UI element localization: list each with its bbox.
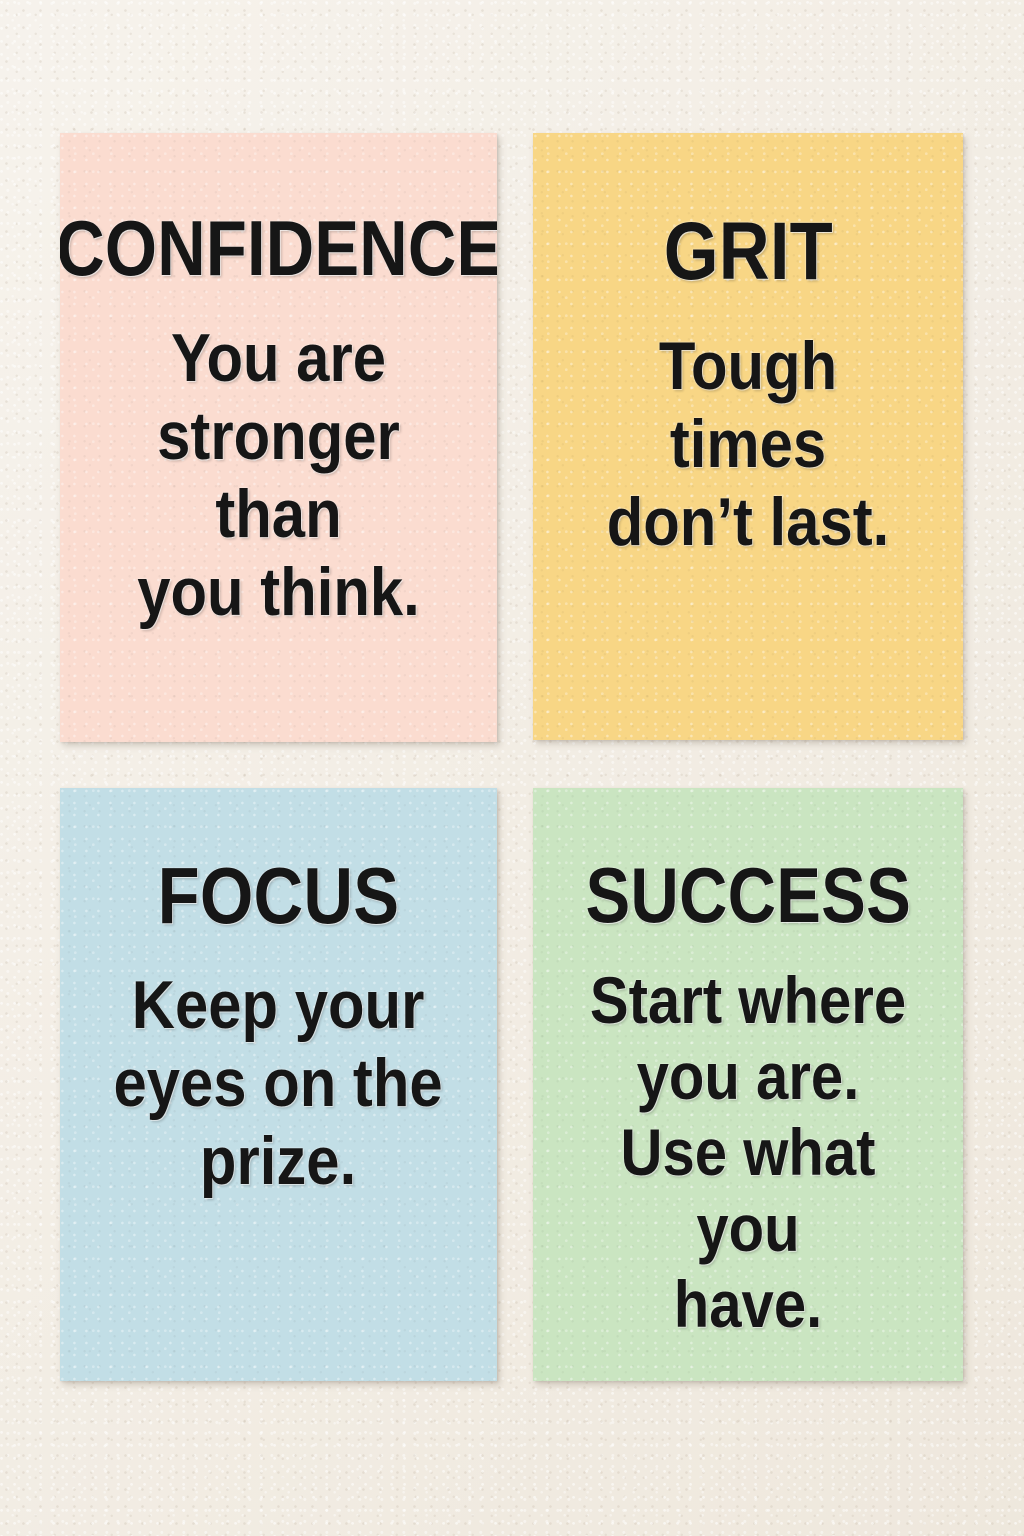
quote-line: prize. [114,1122,443,1200]
poster-quote-focus: Keep your eyes on the prize. [114,966,443,1200]
quote-line: Tough times [575,327,922,483]
poster-quote-success: Start where you are. Use what you have. [575,962,922,1342]
poster-card-confidence[interactable]: CONFIDENCE You are stronger than you thi… [60,133,497,742]
poster-title-grit: GRIT [663,211,832,293]
poster-content: FOCUS Keep your eyes on the prize. [60,788,497,1381]
quote-line: eyes on the [114,1044,443,1122]
poster-content: GRIT Tough times don’t last. [533,133,963,740]
poster-content: CONFIDENCE You are stronger than you thi… [60,133,497,742]
quote-line: Use what you [575,1114,922,1266]
poster-title-success: SUCCESS [585,856,911,934]
poster-card-success[interactable]: SUCCESS Start where you are. Use what yo… [533,788,963,1381]
quote-line: don’t last. [575,483,922,561]
poster-card-grit[interactable]: GRIT Tough times don’t last. [533,133,963,740]
poster-board: CONFIDENCE You are stronger than you thi… [0,0,1024,1536]
poster-quote-grit: Tough times don’t last. [575,327,922,561]
poster-title-confidence: CONFIDENCE [60,209,497,287]
quote-line: Start where [575,962,922,1038]
poster-title-focus: FOCUS [158,856,400,936]
quote-line: you think. [102,553,455,631]
poster-content: SUCCESS Start where you are. Use what yo… [533,788,963,1381]
quote-line: Keep your [114,966,443,1044]
poster-card-focus[interactable]: FOCUS Keep your eyes on the prize. [60,788,497,1381]
quote-line: stronger than [102,397,455,553]
poster-quote-confidence: You are stronger than you think. [102,319,455,631]
quote-line: have. [575,1266,922,1342]
quote-line: you are. [575,1038,922,1114]
quote-line: You are [102,319,455,397]
